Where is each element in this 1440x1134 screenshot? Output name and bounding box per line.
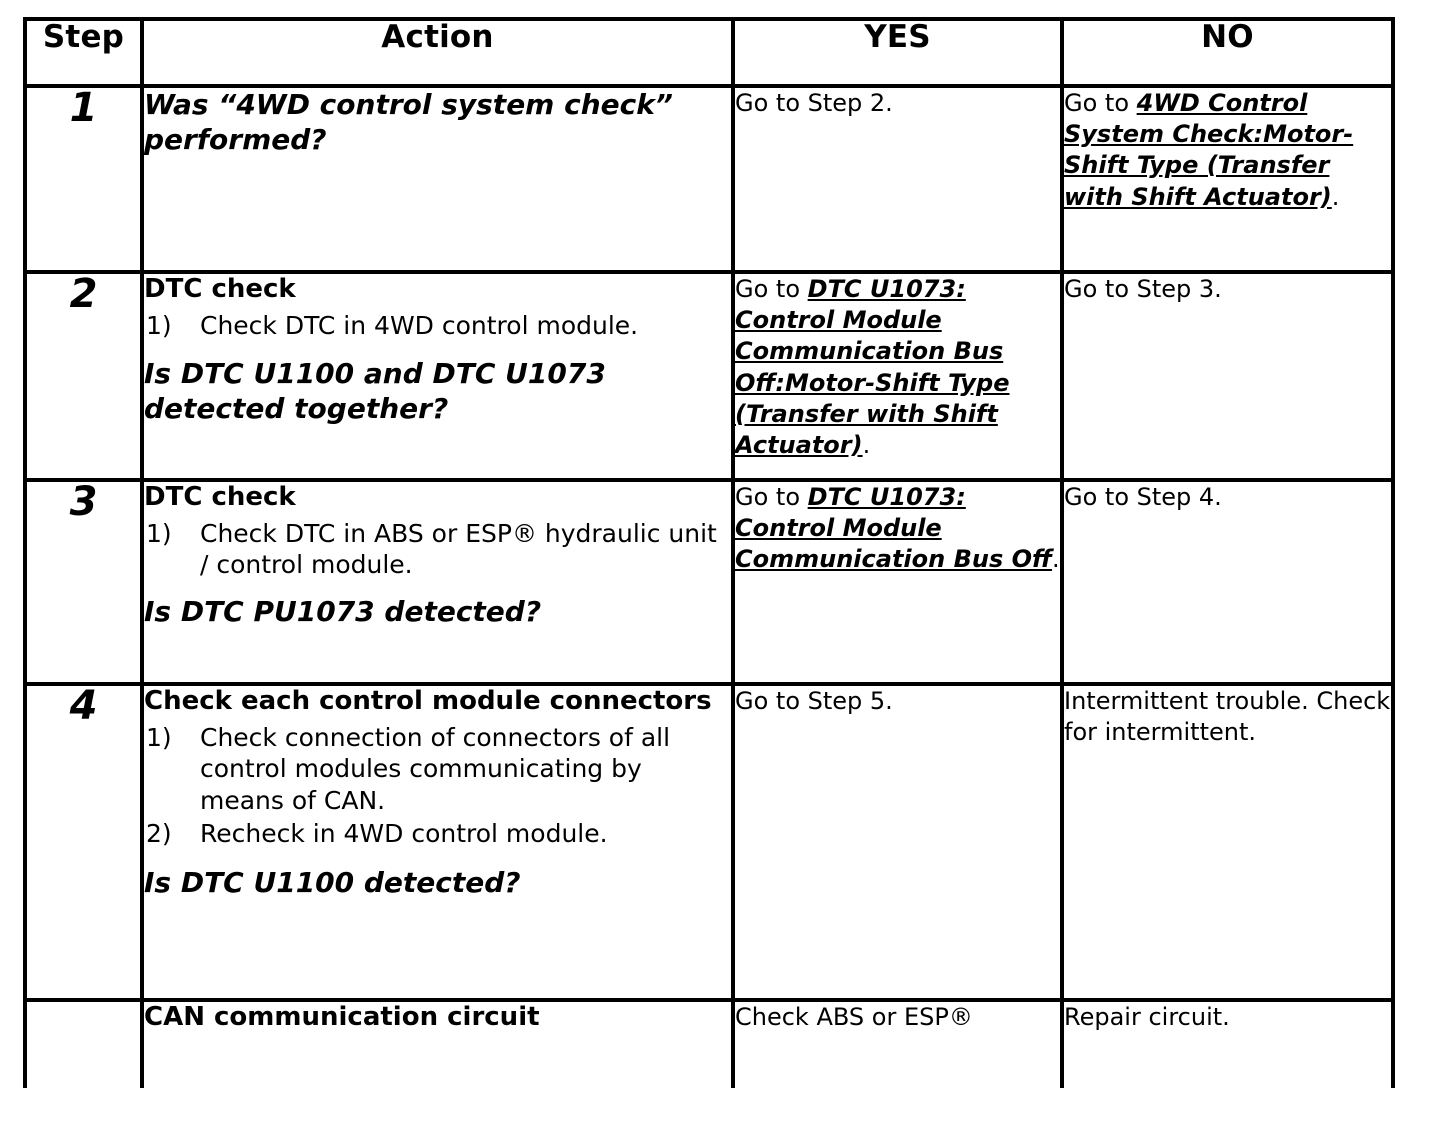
yes-answer-text: Go to DTC U1073: Control Module Communic…: [735, 482, 1060, 576]
yes-suffix: .: [863, 431, 871, 459]
action-question: Was “4WD control system check” performed…: [144, 88, 731, 157]
no-answer-text: Go to 4WD Control System Check:Motor-Shi…: [1064, 88, 1391, 213]
table-header: Step Action YES NO: [25, 19, 1393, 86]
table-row: 2 DTC check 1) Check DTC in 4WD control …: [25, 272, 1393, 480]
yes-prefix: Go to: [735, 483, 808, 511]
yes-answer-text: Go to DTC U1073: Control Module Communic…: [735, 274, 1060, 461]
table-row: CAN communication circuit Check ABS or E…: [25, 1000, 1393, 1088]
action-cell: Was “4WD control system check” performed…: [142, 86, 733, 272]
yes-cell: Go to Step 5.: [733, 684, 1062, 1000]
table-row: 4 Check each control module connectors 1…: [25, 684, 1393, 1000]
yes-cell: Go to DTC U1073: Control Module Communic…: [733, 480, 1062, 684]
action-question: Is DTC PU1073 detected?: [144, 595, 731, 630]
action-cell: DTC check 1) Check DTC in ABS or ESP® hy…: [142, 480, 733, 684]
no-answer-text: Go to Step 3.: [1064, 274, 1391, 305]
no-answer-text: Intermittent trouble. Check for intermit…: [1064, 686, 1391, 748]
yes-answer-text: Go to Step 5.: [735, 686, 1060, 717]
action-question: Is DTC U1100 detected?: [144, 866, 731, 901]
no-prefix: Go to Step 3.: [1064, 275, 1222, 303]
action-heading: DTC check: [144, 274, 731, 306]
no-cell: Repair circuit.: [1062, 1000, 1393, 1088]
action-step-list: 1) Check connection of connectors of all…: [144, 722, 731, 850]
action-cell: CAN communication circuit: [142, 1000, 733, 1088]
yes-prefix: Go to Step 5.: [735, 687, 893, 715]
step-number-cell: 4: [25, 684, 142, 1000]
list-marker: 1): [146, 518, 172, 550]
step-number-cell: 1: [25, 86, 142, 272]
list-item: 1) Check DTC in ABS or ESP® hydraulic un…: [144, 518, 731, 581]
column-header-yes: YES: [733, 19, 1062, 86]
no-cell: Go to Step 3.: [1062, 272, 1393, 480]
action-heading: CAN communication circuit: [144, 1002, 731, 1034]
yes-prefix: Go to: [735, 275, 808, 303]
list-item: 1) Check DTC in 4WD control module.: [144, 310, 731, 342]
table-row: 1 Was “4WD control system check” perform…: [25, 86, 1393, 272]
list-item-text: Check connection of connectors of all co…: [200, 723, 670, 815]
yes-cell: Check ABS or ESP®: [733, 1000, 1062, 1088]
list-item-text: Recheck in 4WD control module.: [200, 819, 608, 848]
diagnostic-flow-table: Step Action YES NO 1 Was “4WD control sy…: [23, 17, 1395, 1088]
document-page: Step Action YES NO 1 Was “4WD control sy…: [0, 0, 1440, 1134]
no-cell: Intermittent trouble. Check for intermit…: [1062, 684, 1393, 1000]
list-item: 1) Check connection of connectors of all…: [144, 722, 731, 817]
no-cell: Go to Step 4.: [1062, 480, 1393, 684]
list-item-text: Check DTC in ABS or ESP® hydraulic unit …: [200, 519, 717, 580]
list-marker: 2): [146, 818, 172, 850]
action-heading: Check each control module connectors: [144, 686, 731, 718]
list-marker: 1): [146, 310, 172, 342]
yes-prefix: Go to Step 2.: [735, 89, 893, 117]
no-answer-text: Repair circuit.: [1064, 1002, 1391, 1033]
yes-cell: Go to Step 2.: [733, 86, 1062, 272]
no-cell: Go to 4WD Control System Check:Motor-Shi…: [1062, 86, 1393, 272]
action-cell: Check each control module connectors 1) …: [142, 684, 733, 1000]
yes-suffix: .: [1052, 545, 1060, 573]
no-answer-text: Go to Step 4.: [1064, 482, 1391, 513]
no-suffix: .: [1332, 183, 1340, 211]
column-header-action: Action: [142, 19, 733, 86]
yes-prefix: Check ABS or ESP®: [735, 1003, 973, 1031]
step-number-cell: 2: [25, 272, 142, 480]
action-cell: DTC check 1) Check DTC in 4WD control mo…: [142, 272, 733, 480]
no-prefix: Repair circuit.: [1064, 1003, 1230, 1031]
action-step-list: 1) Check DTC in ABS or ESP® hydraulic un…: [144, 518, 731, 581]
column-header-no: NO: [1062, 19, 1393, 86]
list-item-text: Check DTC in 4WD control module.: [200, 311, 638, 340]
header-row: Step Action YES NO: [25, 19, 1393, 86]
yes-answer-text: Check ABS or ESP®: [735, 1002, 1060, 1033]
step-number-cell: [25, 1000, 142, 1088]
step-number-cell: 3: [25, 480, 142, 684]
column-header-step: Step: [25, 19, 142, 86]
table-row: 3 DTC check 1) Check DTC in ABS or ESP® …: [25, 480, 1393, 684]
yes-answer-text: Go to Step 2.: [735, 88, 1060, 119]
action-step-list: 1) Check DTC in 4WD control module.: [144, 310, 731, 342]
yes-cell: Go to DTC U1073: Control Module Communic…: [733, 272, 1062, 480]
list-marker: 1): [146, 722, 172, 754]
list-item: 2) Recheck in 4WD control module.: [144, 818, 731, 850]
no-prefix: Go to: [1064, 89, 1137, 117]
no-prefix: Go to Step 4.: [1064, 483, 1222, 511]
action-question: Is DTC U1100 and DTC U1073 detected toge…: [144, 357, 731, 426]
table-body: 1 Was “4WD control system check” perform…: [25, 86, 1393, 1088]
no-prefix: Intermittent trouble. Check for intermit…: [1064, 687, 1390, 746]
action-heading: DTC check: [144, 482, 731, 514]
